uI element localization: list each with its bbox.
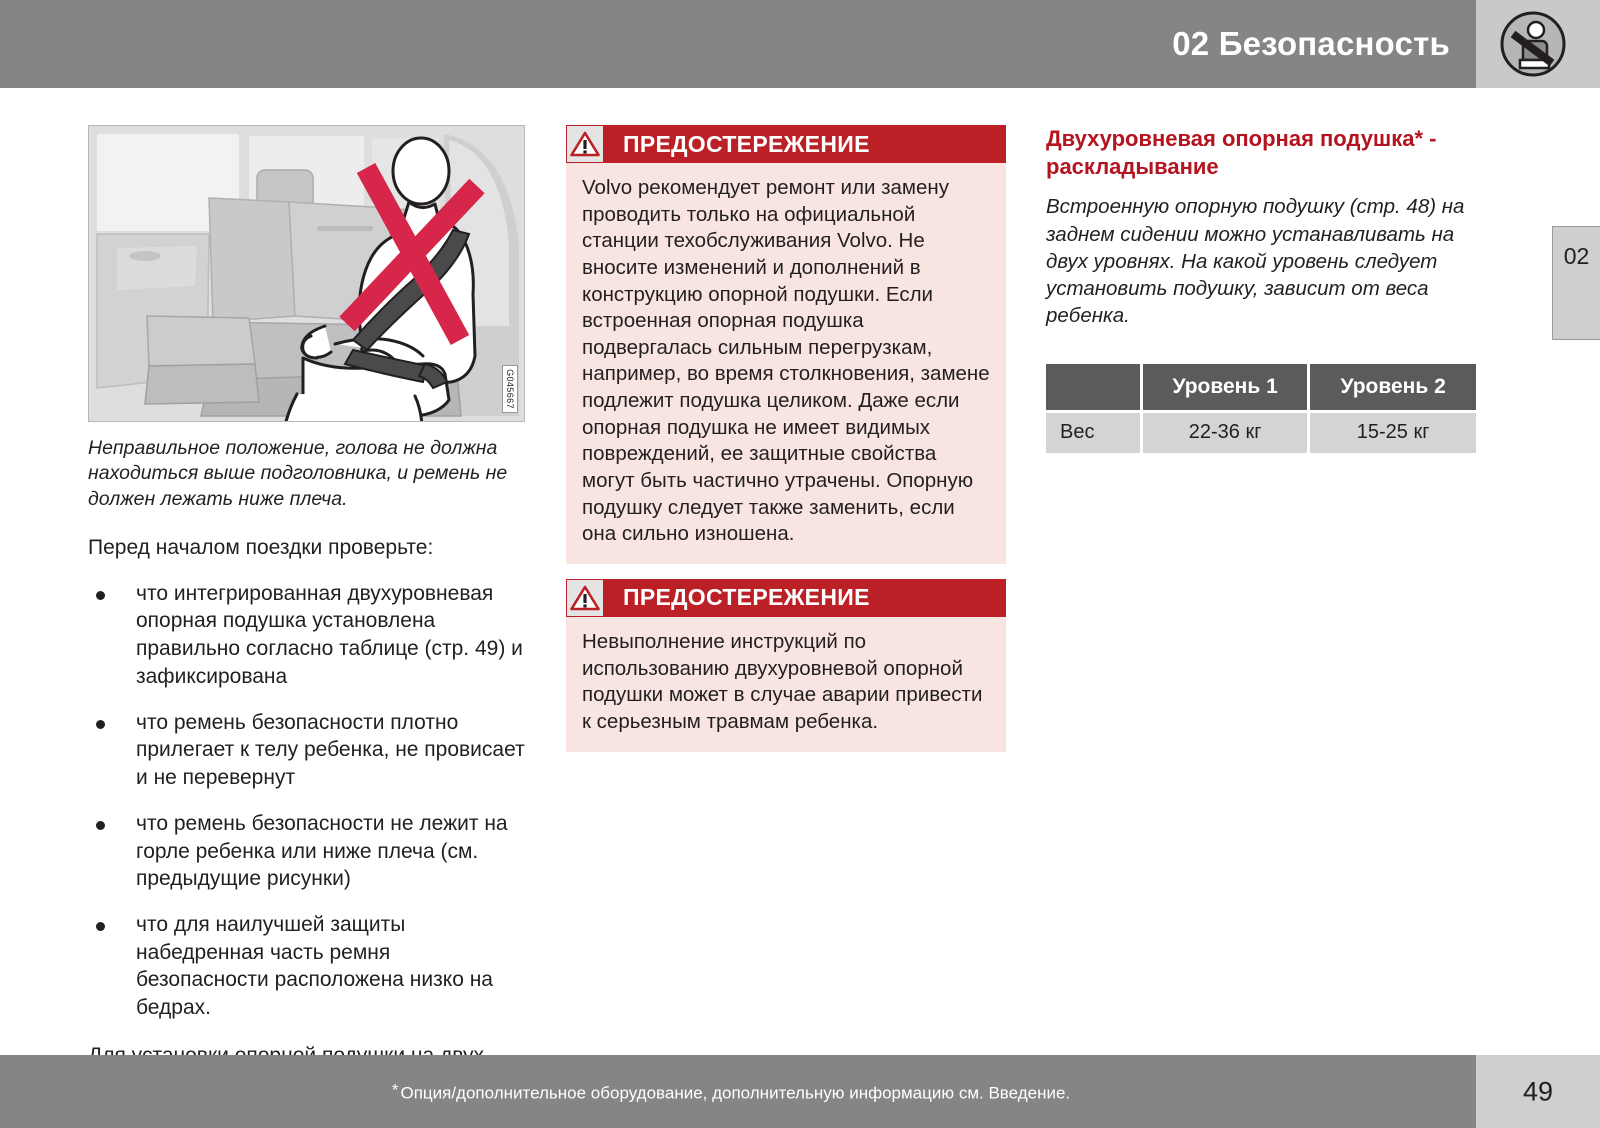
right-column: Двухуровневая опорная подушка* - расклад… bbox=[1046, 125, 1486, 456]
warning-box-2: ПРЕДОСТЕРЕЖЕНИЕ Невыполнение инструкций … bbox=[566, 579, 1006, 752]
warnings-column: ПРЕДОСТЕРЕЖЕНИЕ Volvo рекомендует ремонт… bbox=[566, 125, 1006, 767]
page-title: 02 Безопасность bbox=[1172, 25, 1450, 63]
figure-id-code: G045667 bbox=[502, 365, 518, 413]
warning-triangle-glyph bbox=[570, 131, 600, 157]
seatbelt-child-restraint-icon bbox=[1498, 9, 1568, 79]
chapter-side-tab[interactable]: 02 bbox=[1552, 226, 1600, 340]
table-header-level-2: Уровень 2 bbox=[1309, 364, 1476, 412]
table-row-label-weight: Вес bbox=[1046, 411, 1142, 454]
table-row: Вес 22-36 кг 15-25 кг bbox=[1046, 411, 1476, 454]
warning-box-2-title: ПРЕДОСТЕРЕЖЕНИЕ bbox=[623, 584, 870, 611]
warning-triangle-glyph bbox=[570, 585, 600, 611]
left-column: G045667 Неправильное положение, голова н… bbox=[88, 125, 528, 1125]
table-header-row: Уровень 1 Уровень 2 bbox=[1046, 364, 1476, 412]
page-number: 49 bbox=[1476, 1076, 1600, 1107]
list-item: что интегрированная двухуровневая опорна… bbox=[88, 580, 528, 691]
rear-seat-illustration-graphic bbox=[89, 126, 525, 422]
footer-note: *Опция/дополнительное оборудование, допо… bbox=[0, 1080, 1462, 1103]
section-intro: Встроенную опорную подушку (стр. 48) на … bbox=[1046, 193, 1486, 329]
table-corner-cell bbox=[1046, 364, 1142, 412]
figure-caption: Неправильное положение, голова не должна… bbox=[88, 436, 528, 512]
warning-box-1-header: ПРЕДОСТЕРЕЖЕНИЕ bbox=[566, 125, 1006, 163]
footer-page-panel: 49 bbox=[1476, 1055, 1600, 1128]
footer-note-text: Опция/дополнительное оборудование, допол… bbox=[400, 1083, 1070, 1102]
warning-triangle-icon bbox=[567, 580, 603, 616]
chapter-side-tab-label: 02 bbox=[1553, 243, 1600, 270]
warning-box-1: ПРЕДОСТЕРЕЖЕНИЕ Volvo рекомендует ремонт… bbox=[566, 125, 1006, 564]
footer-asterisk: * bbox=[392, 1080, 399, 1099]
warning-box-1-title: ПРЕДОСТЕРЕЖЕНИЕ bbox=[623, 131, 870, 158]
weight-level-table: Уровень 1 Уровень 2 Вес 22-36 кг 15-25 к… bbox=[1046, 364, 1476, 456]
header-icon-panel bbox=[1476, 0, 1600, 88]
list-item: что ремень безопасности не лежит на горл… bbox=[88, 810, 528, 893]
table-cell-level-2-weight: 15-25 кг bbox=[1309, 411, 1476, 454]
warning-box-2-header: ПРЕДОСТЕРЕЖЕНИЕ bbox=[566, 579, 1006, 617]
page-footer-bar: *Опция/дополнительное оборудование, допо… bbox=[0, 1055, 1476, 1128]
checklist-intro: Перед началом поездки проверьте: bbox=[88, 534, 528, 562]
warning-box-2-body: Невыполнение инструкций по использованию… bbox=[566, 617, 1006, 752]
list-item: что для наилучшей защиты набедренная час… bbox=[88, 911, 528, 1022]
table-cell-level-1-weight: 22-36 кг bbox=[1142, 411, 1309, 454]
table-header-level-1: Уровень 1 bbox=[1142, 364, 1309, 412]
list-item: что ремень безопасности плотно прилегает… bbox=[88, 709, 528, 792]
warning-triangle-icon bbox=[567, 126, 603, 162]
page-header-bar: 02 Безопасность bbox=[0, 0, 1476, 88]
section-heading: Двухуровневая опорная подушка* - расклад… bbox=[1046, 125, 1486, 181]
pre-trip-checklist: что интегрированная двухуровневая опорна… bbox=[88, 580, 528, 1022]
warning-box-1-body: Volvo рекомендует ремонт или замену пров… bbox=[566, 163, 1006, 564]
rear-seat-illustration: G045667 bbox=[88, 125, 525, 422]
